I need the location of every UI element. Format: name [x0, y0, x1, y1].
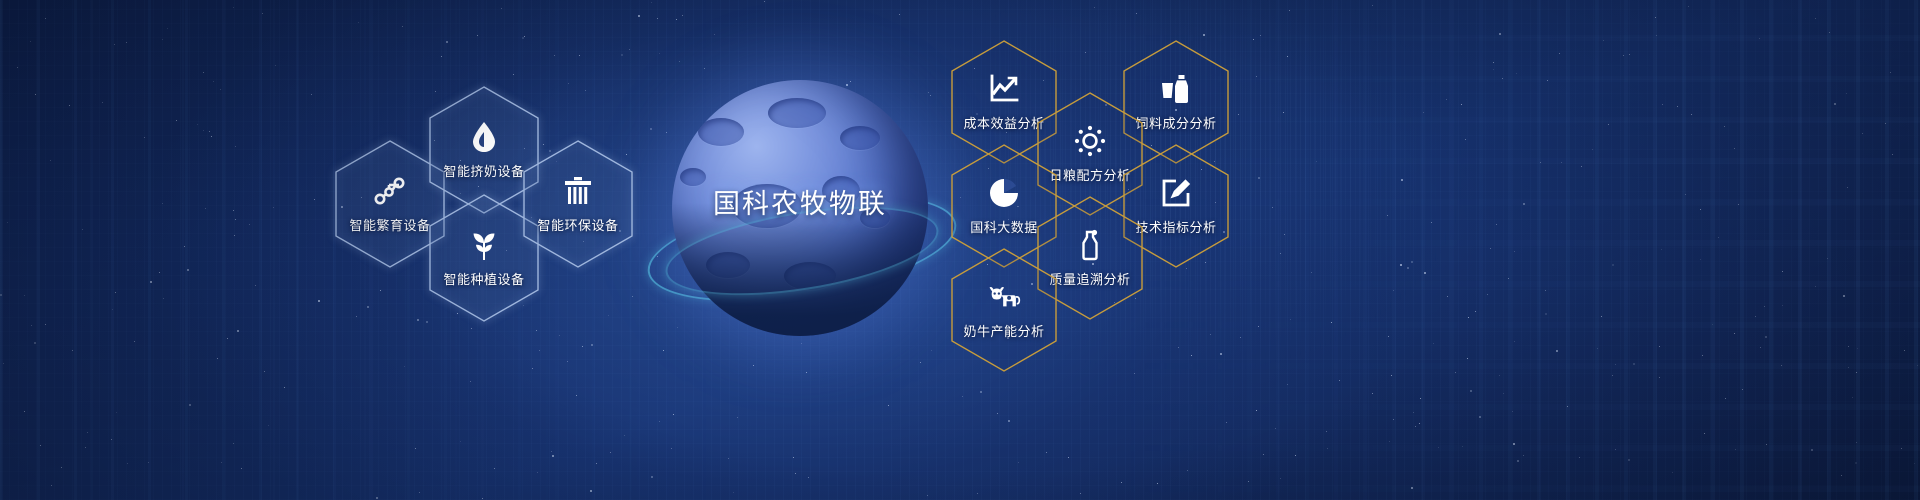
hex-label: 智能繁育设备 [349, 215, 430, 234]
hex-label: 奶牛产能分析 [963, 321, 1044, 340]
milk-bottle-cup-icon [1159, 72, 1193, 106]
node-graph-icon [373, 174, 407, 208]
line-chart-icon [987, 72, 1021, 106]
iot-platform-banner: 国科农牧物联 智能繁育设备 [0, 0, 1920, 500]
cow-icon [987, 280, 1021, 314]
hex-label: 智能挤奶设备 [443, 161, 524, 180]
recycle-bin-icon [561, 174, 595, 208]
hex-cell-smart-environmental[interactable]: 智能环保设备 [522, 140, 634, 268]
hex-label: 智能种植设备 [443, 269, 524, 288]
planet-graphic [650, 72, 950, 372]
hex-label: 日粮配方分析 [1049, 165, 1130, 184]
hex-label: 国科大数据 [970, 217, 1038, 236]
hex-label: 质量追溯分析 [1049, 269, 1130, 288]
hex-label: 饲料成分分析 [1135, 113, 1216, 132]
water-drop-icon [467, 120, 501, 154]
sun-radial-icon [1073, 124, 1107, 158]
pencil-edit-icon [1159, 176, 1193, 210]
pie-chart-icon [987, 176, 1021, 210]
sprout-plant-icon [467, 228, 501, 262]
hex-label: 技术指标分析 [1135, 217, 1216, 236]
hex-cell-dairy-cow-capacity-analysis[interactable]: 奶牛产能分析 [950, 248, 1058, 372]
page-title: 国科农牧物联 [650, 182, 950, 221]
hex-label: 成本效益分析 [963, 113, 1044, 132]
hex-label: 智能环保设备 [537, 215, 618, 234]
milk-bottle-icon [1073, 228, 1107, 262]
